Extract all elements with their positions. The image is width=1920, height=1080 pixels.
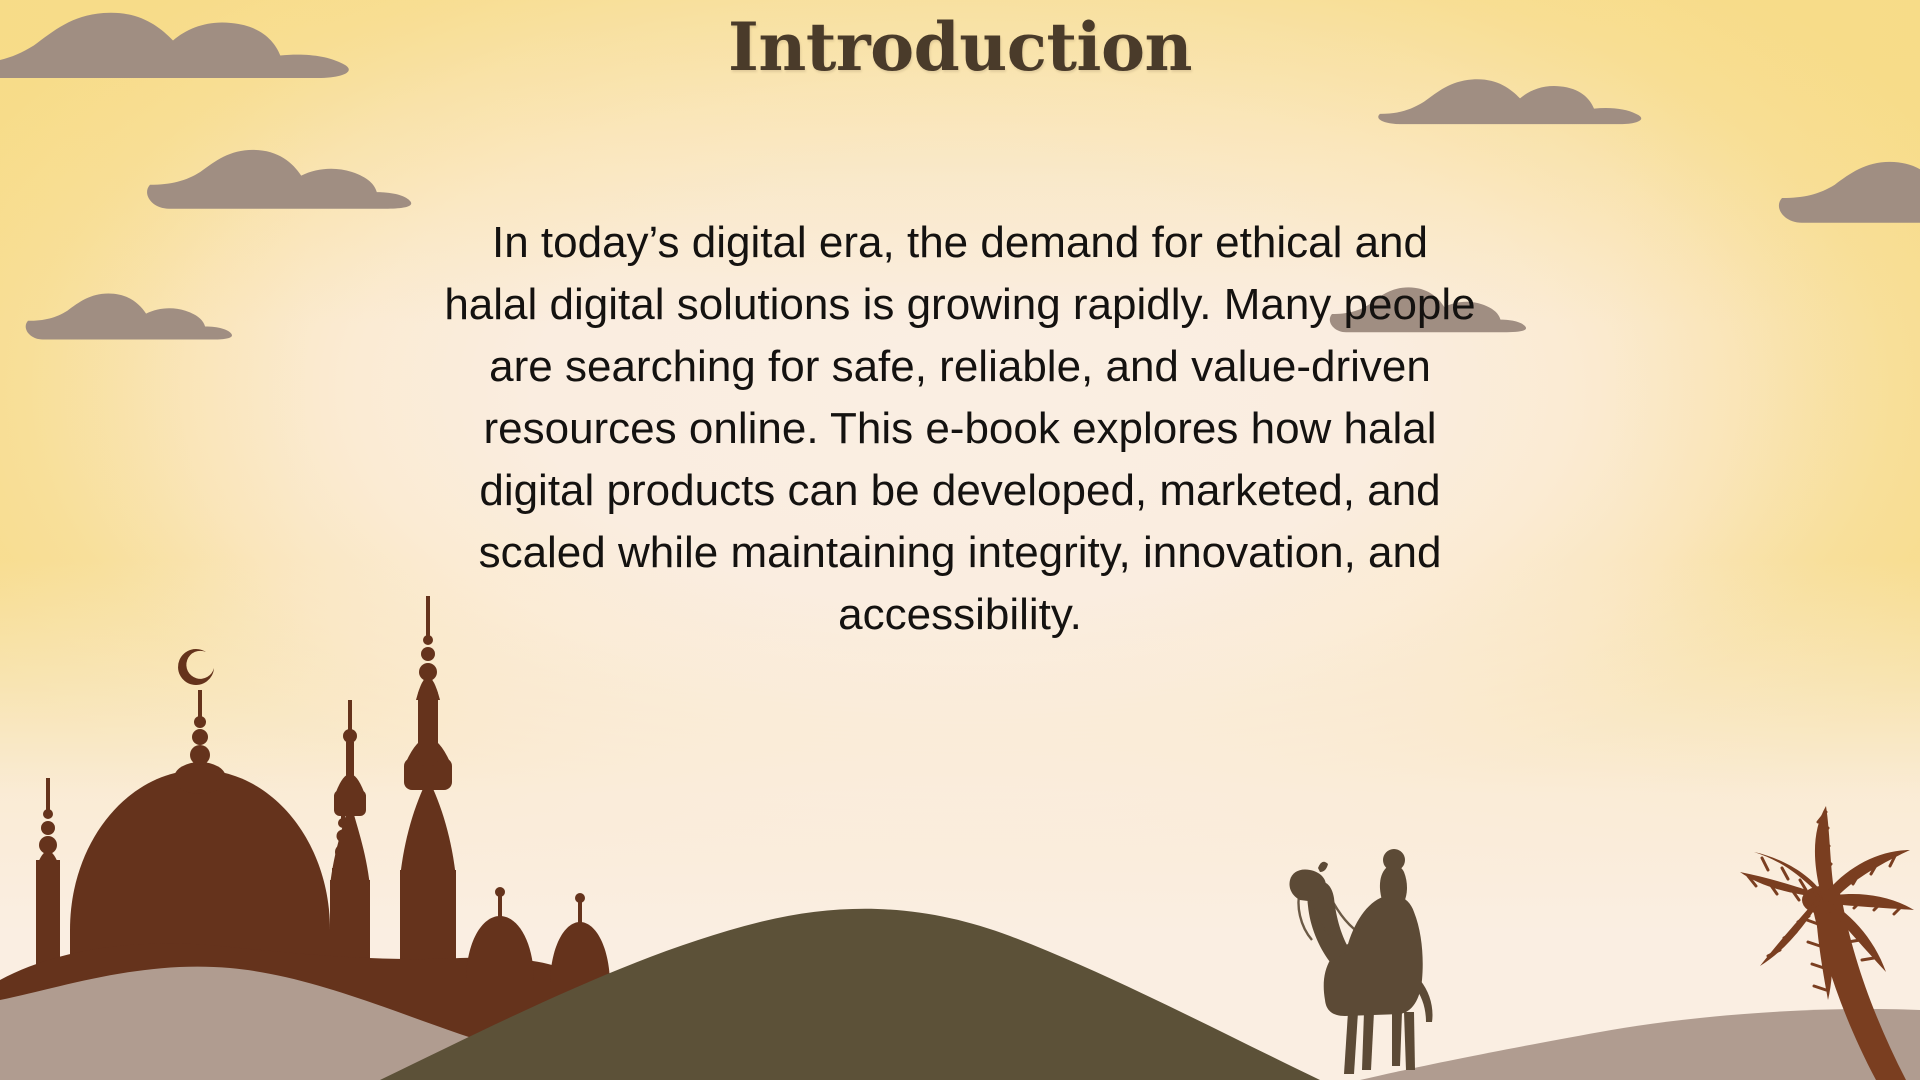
body-paragraph: In today’s digital era, the demand for e… (440, 212, 1480, 646)
palm-fronds (1740, 806, 1914, 1000)
page-title: Introduction (0, 8, 1920, 86)
palm-tree-silhouette (1740, 806, 1914, 1080)
slide-canvas: Introduction In today’s digital era, the… (0, 0, 1920, 1080)
